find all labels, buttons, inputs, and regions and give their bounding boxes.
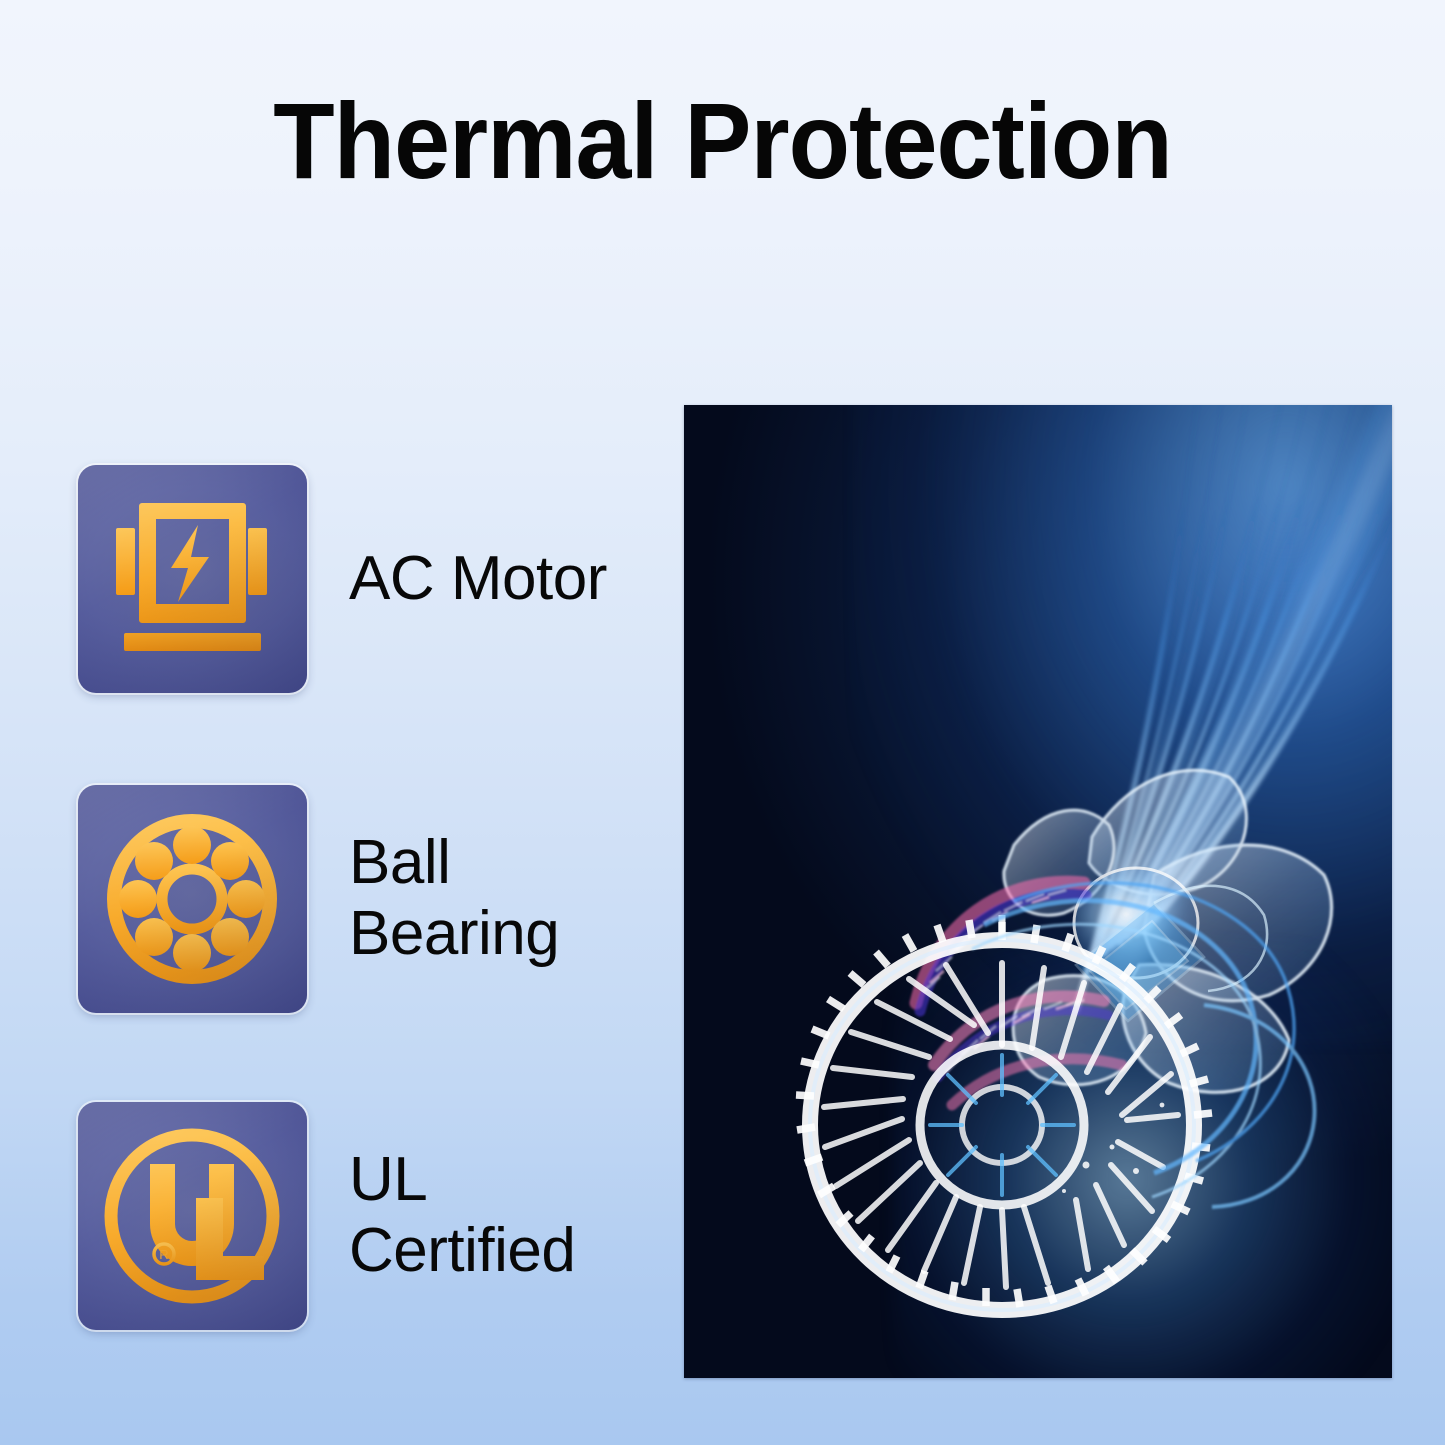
page-title: Thermal Protection — [51, 78, 1395, 203]
feature-label: AC Motor — [349, 544, 607, 615]
feature-label: Ball Bearing — [349, 828, 559, 969]
feature-item-ac-motor: AC Motor — [78, 465, 607, 693]
feature-item-ball-bearing: Ball Bearing — [78, 785, 559, 1013]
feature-label: UL Certified — [349, 1145, 575, 1286]
feature-icon-tile — [78, 465, 307, 693]
svg-text:R: R — [159, 1247, 168, 1262]
feature-icon-tile: R — [78, 1102, 307, 1330]
fan-motor-xray-photo — [684, 405, 1392, 1378]
feature-icon-tile — [78, 785, 307, 1013]
feature-item-ul-certified: R UL Certified — [78, 1102, 575, 1330]
